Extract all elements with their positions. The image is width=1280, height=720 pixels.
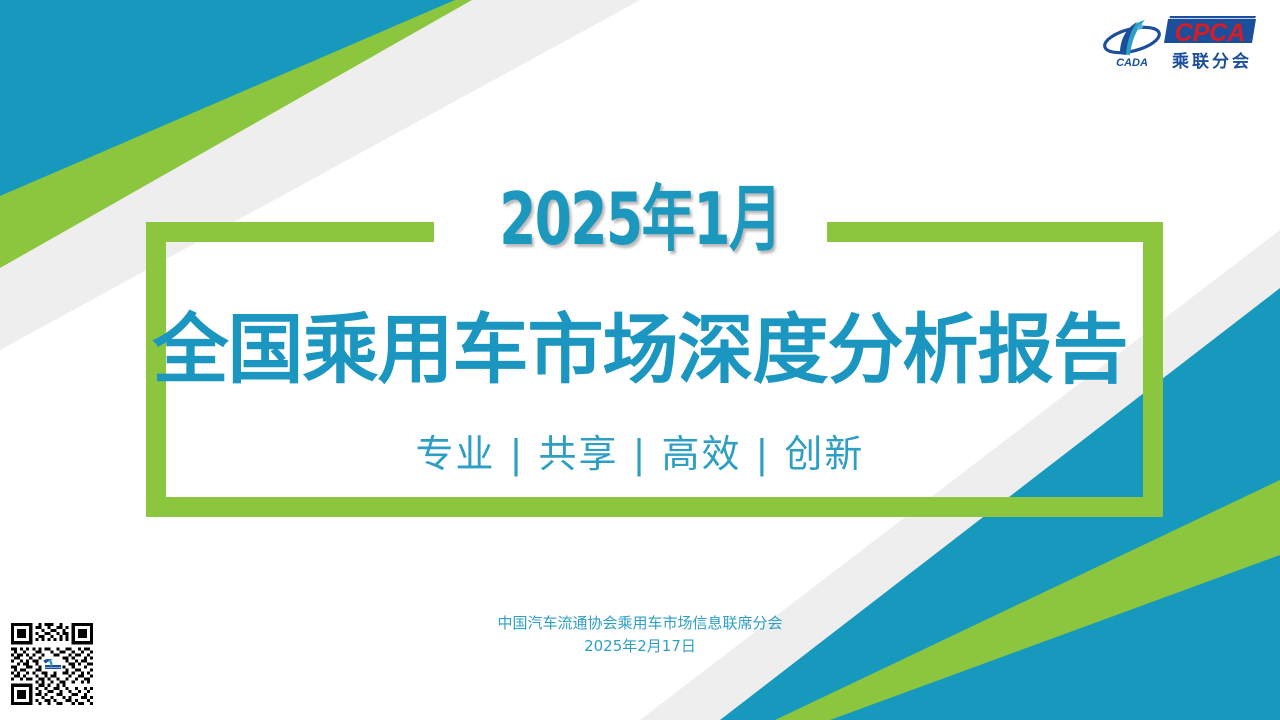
footer-date: 2025年2月17日 [0, 635, 1280, 658]
page-subtitle: 专业 | 共享 | 高效 | 创新 [0, 432, 1280, 478]
frame-bar-bottom [146, 497, 1163, 517]
qr-code-icon [8, 620, 96, 708]
cpca-brand-chinese: 乘联分会 [1171, 51, 1252, 72]
cada-emblem: CADA [1102, 20, 1162, 69]
cpca-brand-latin: CPCA [1175, 19, 1246, 47]
footer-organization: 中国汽车流通协会乘用车市场信息联席分会 [0, 612, 1280, 635]
top-left-teal-wedge [0, 0, 455, 196]
top-left-gray-band [0, 0, 640, 350]
cpca-logo-icon: CADA CPCA 乘联分会 [1096, 14, 1256, 76]
cpca-logo: CADA CPCA 乘联分会 [1096, 14, 1256, 76]
slide-root: 2025年1月 全国乘用车市场深度分析报告 专业 | 共享 | 高效 | 创新 … [0, 0, 1280, 720]
footer: 中国汽车流通协会乘用车市场信息联席分会 2025年2月17日 [0, 612, 1280, 659]
cpca-wordmark: CPCA [1164, 16, 1256, 47]
cada-mark-text: CADA [1116, 57, 1148, 69]
qr-code[interactable] [8, 620, 96, 708]
report-date-title: 2025年1月 [166, 183, 1113, 255]
page-title: 全国乘用车市场深度分析报告 [0, 310, 1280, 390]
